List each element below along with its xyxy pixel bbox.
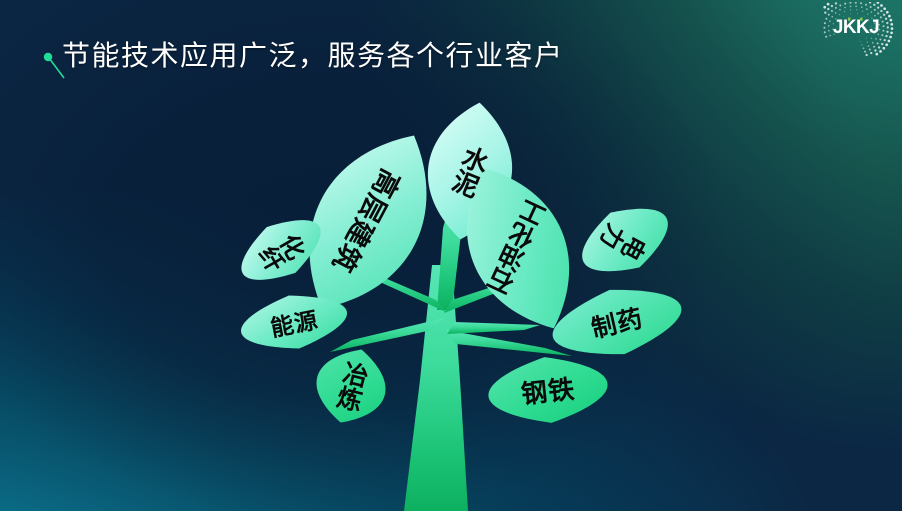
slide-canvas: 高层建筑水泥化纤能源石油化工电力制药冶炼钢铁 节能技术应用广泛，服务各个行业客户… <box>0 0 902 511</box>
title-accent-dot <box>44 53 52 61</box>
logo-dot-accent-2 <box>860 18 862 21</box>
page-title: 节能技术应用广泛，服务各个行业客户 <box>62 36 564 76</box>
jkkj-logo[interactable]: JKKJ <box>810 2 896 56</box>
logo-dot-accent-1 <box>848 18 850 21</box>
leaf-dianli[interactable] <box>569 191 681 290</box>
leaf-gangtie[interactable] <box>485 351 611 429</box>
logo-wordmark: JKKJ <box>833 17 879 38</box>
leaf-yelian[interactable] <box>307 340 395 432</box>
